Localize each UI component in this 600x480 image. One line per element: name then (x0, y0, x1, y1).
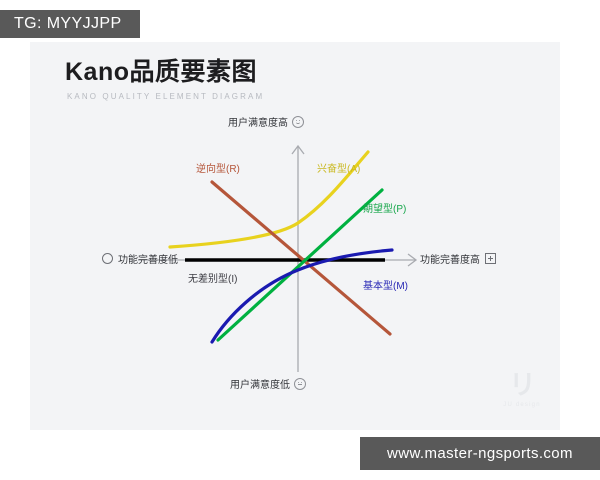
tg-watermark-text: TG: MYYJJPP (14, 15, 122, 33)
url-watermark-text: www.master-ngsports.com (387, 445, 573, 462)
y-axis-high-label: 用户满意度高 (228, 114, 304, 129)
kano-diagram-card: Kano品质要素图 KANO QUALITY ELEMENT DIAGRAM 用… (30, 42, 560, 430)
y-axis-high-text: 用户满意度高 (228, 114, 288, 129)
logo-mark: リ (492, 372, 552, 399)
series-label-performance: 期望型(P) (363, 200, 406, 215)
series-label-attractive: 兴奋型(A) (317, 160, 360, 175)
logo-wordmark: JU design (492, 402, 552, 408)
flat-face-icon (294, 378, 306, 390)
kano-plot-area (30, 42, 560, 430)
series-line-performance (218, 190, 382, 340)
x-axis-high-label: 功能完善度高 (420, 251, 496, 266)
tg-watermark-badge: TG: MYYJJPP (0, 10, 140, 38)
y-axis-low-label: 用户满意度低 (230, 376, 306, 391)
x-axis-high-text: 功能完善度高 (420, 251, 480, 266)
x-axis-low-label: 功能完善度低 (102, 251, 178, 266)
square-plus-icon (485, 253, 496, 264)
logo-watermark: リ JU design (492, 372, 552, 408)
x-axis-low-text: 功能完善度低 (118, 251, 178, 266)
circle-icon (102, 253, 113, 264)
series-label-reverse: 逆向型(R) (196, 160, 240, 175)
smiley-face-icon (292, 116, 304, 128)
y-axis-low-text: 用户满意度低 (230, 376, 290, 391)
url-watermark-badge: www.master-ngsports.com (360, 437, 600, 470)
series-label-indifferent: 无差别型(I) (188, 270, 237, 285)
series-label-mustbe: 基本型(M) (363, 277, 408, 292)
